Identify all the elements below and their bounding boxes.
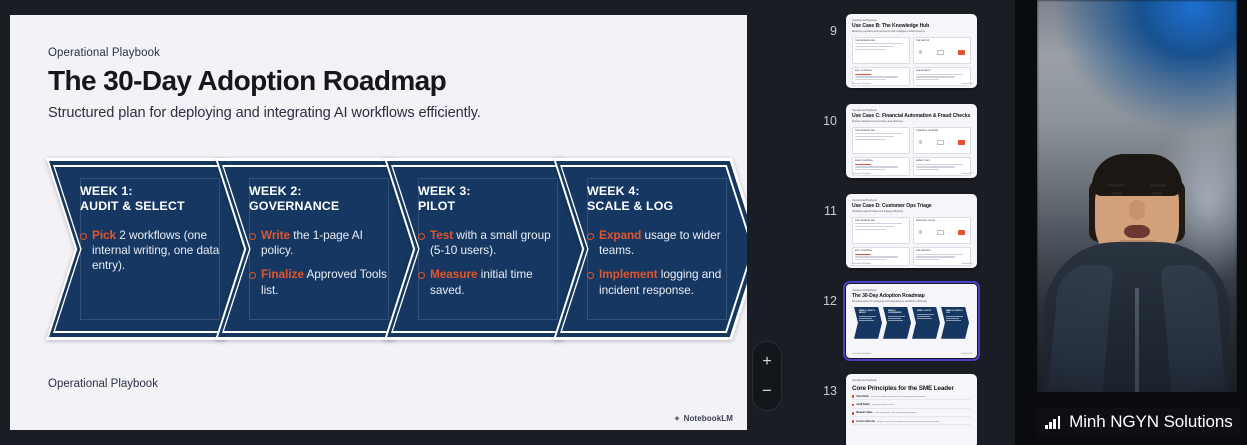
text-line	[916, 79, 939, 80]
thumb-footer: Operational Playbook	[852, 83, 871, 85]
cell-header: THE RESULT	[916, 70, 968, 72]
text-line	[855, 256, 898, 257]
thumb-eyebrow: Operational Playbook	[852, 379, 971, 382]
thumb-watermark: NotebookLM	[961, 83, 972, 85]
text-line	[855, 226, 894, 227]
bullet-dot-icon	[852, 420, 854, 422]
text-line	[855, 79, 886, 80]
thumb-eyebrow: Operational Playbook	[852, 19, 971, 22]
person-hair	[1092, 154, 1182, 196]
principle-label: Start Small	[856, 396, 868, 398]
audio-level-bars-icon	[1045, 415, 1060, 429]
roadmap-step-4-bullets: Expand usage to wider teams.Implement lo…	[587, 228, 727, 299]
thumb-subtitle: Handling support intake and triaging eff…	[852, 210, 971, 213]
thumb-subtitle: Structured plan for deploying and integr…	[852, 300, 971, 303]
thumb-eyebrow: Operational Playbook	[852, 109, 971, 112]
principle-text: Policy precedes access.	[872, 404, 894, 406]
cell-header: RISK CONTROL	[855, 160, 907, 162]
principle-label: Audit Safely	[856, 404, 869, 406]
thumb-step-1: WEEK 1: AUDIT & SELECT	[854, 307, 882, 339]
thumb-cell-2: ROUTING LOGIC→→	[913, 217, 971, 245]
participant-name-bar: Minh NGYN Solutions	[1037, 407, 1241, 437]
slide-footer-label: Operational Playbook	[48, 378, 158, 390]
thumb-footer: Operational Playbook	[852, 353, 871, 355]
thumbnail-number: 9	[820, 14, 846, 38]
thumb-step-title: WEEK 1: AUDIT & SELECT	[859, 310, 880, 315]
person-torso	[1044, 242, 1230, 392]
bullet-keyword: Test	[430, 228, 453, 242]
thumb-cell-grid: THE WORKFLOWROUTING LOGIC→→KEY CONTROLTH…	[852, 217, 971, 267]
thumb-eyebrow: Operational Playbook	[852, 199, 971, 202]
cell-header: THE WORKFLOW	[855, 220, 907, 222]
person-eye-right	[1151, 192, 1163, 196]
thumb-principle-3: Measure ValueTrack time saved, then meas…	[852, 412, 971, 417]
text-line	[855, 46, 894, 47]
roadmap-step-2-bullet-1: Write the 1-page AI policy.	[249, 228, 389, 259]
text-line	[855, 254, 871, 255]
roadmap-step-2-bullet-2: Finalize Approved Tools list.	[249, 267, 389, 298]
bullet-dot-icon	[852, 404, 854, 406]
thumb-footer: Operational Playbook	[852, 173, 871, 175]
cell-header: ROUTING LOGIC	[916, 220, 968, 222]
text-line	[855, 139, 886, 140]
thumb-diagram: →→	[916, 133, 968, 151]
thumbnail-row[interactable]: 9Operational PlaybookUse Case B: The Kno…	[812, 14, 1015, 88]
roadmap-step-4-bullet-2: Implement logging and incident response.	[587, 267, 727, 298]
principle-label: Measure Value	[856, 412, 872, 414]
cell-header: IMPACT KPI	[916, 160, 968, 162]
jacket-collar-right	[1161, 262, 1226, 392]
text-line	[855, 166, 898, 167]
thumb-principle-list: Start SmallFocus on a single workflow, n…	[852, 395, 971, 425]
thumbnail-slide-13[interactable]: Operational PlaybookCore Principles for …	[846, 374, 977, 445]
principle-text: Focus on a single workflow, not an enter…	[870, 396, 926, 398]
thumb-cell-1: THE WORKFLOW	[852, 127, 910, 155]
slide-eyebrow: Operational Playbook	[48, 47, 709, 59]
roadmap-step-3-bullet-2: Measure initial time saved.	[418, 267, 558, 298]
roadmap-step-4-bullet-1: Expand usage to wider teams.	[587, 228, 727, 259]
bullet-dot-icon	[852, 395, 854, 397]
bullet-keyword: Finalize	[261, 267, 304, 281]
thumb-principle-2: Audit SafelyPolicy precedes access.	[852, 404, 971, 409]
thumb-subtitle: Explore categories for accuracy and effi…	[852, 120, 971, 123]
text-line	[916, 256, 955, 257]
text-line	[916, 74, 963, 75]
thumb-step-title: WEEK 4: SCALE & LOG	[946, 310, 967, 315]
page-title: The 30-Day Adoption Roadmap	[48, 65, 709, 96]
jacket-zipper	[1135, 288, 1139, 392]
thumb-title: The 30-Day Adoption Roadmap	[852, 293, 971, 299]
thumb-cell-2: CONTROL SYSTEM→→	[913, 127, 971, 155]
roadmap-step-1-bullets: Pick 2 workflows (one internal writing, …	[80, 228, 220, 274]
thumb-step-title: WEEK 2: GOVERNANCE	[888, 310, 909, 315]
thumb-step-title: WEEK 3: PILOT	[917, 310, 938, 312]
cell-header: THE SETUP	[916, 40, 968, 42]
roadmap-step-2-bullets: Write the 1-page AI policy.Finalize Appr…	[249, 228, 389, 299]
text-line	[855, 43, 902, 44]
thumbnail-slide-10[interactable]: Operational PlaybookUse Case C: Financia…	[846, 104, 977, 178]
roadmap-chevron-row: WEEK 1: AUDIT & SELECTPick 2 workflows (…	[46, 158, 736, 343]
roadmap-step-3-bullets: Test with a small group (5-10 users).Mea…	[418, 228, 558, 299]
notebooklm-icon	[673, 415, 681, 423]
roadmap-step-1-title: WEEK 1: AUDIT & SELECT	[80, 184, 220, 215]
principle-text: Require reviews on audited and data rete…	[877, 421, 940, 423]
active-slide[interactable]: Operational Playbook The 30-Day Adoption…	[10, 15, 747, 430]
presentation-viewer: Operational Playbook The 30-Day Adoption…	[0, 0, 1247, 445]
thumbnail-row[interactable]: 13Operational PlaybookCore Principles fo…	[812, 374, 1015, 445]
thumb-title: Core Principles for the SME Leader	[852, 385, 971, 392]
bullet-keyword: Measure	[430, 267, 478, 281]
thumb-cell-grid: THE WORKFLOWTHE SETUP→→KEY CONTROLTHE RE…	[852, 37, 971, 87]
thumb-cell-1: THE WORKFLOW	[852, 37, 910, 65]
slide-footer: Operational Playbook NotebookLM	[10, 374, 747, 430]
thumbnail-number: 10	[820, 104, 846, 128]
principle-label: Govern Outcome	[856, 421, 875, 423]
thumbnail-slide-11[interactable]: Operational PlaybookUse Case D: Customer…	[846, 194, 977, 268]
thumb-title: Use Case C: Financial Automation & Fraud…	[852, 113, 971, 119]
slide-subtitle: Structured plan for deploying and integr…	[48, 105, 709, 121]
zoom-in-button[interactable]: +	[757, 352, 777, 372]
bullet-dot-icon	[852, 412, 854, 414]
participant-name: Minh NGYN Solutions	[1069, 412, 1232, 432]
principle-text: Track time saved, then measure quality g…	[874, 412, 916, 414]
thumb-diagram: →→	[916, 223, 968, 241]
text-line	[916, 254, 963, 255]
thumb-eyebrow: Operational Playbook	[852, 289, 971, 292]
text-line	[855, 229, 886, 230]
thumbnail-number: 11	[820, 194, 846, 218]
thumbnail-number: 12	[820, 284, 846, 308]
thumb-cell-1: THE WORKFLOW	[852, 217, 910, 245]
thumbnail-row[interactable]: 12Operational PlaybookThe 30-Day Adoptio…	[812, 284, 1015, 358]
zoom-out-button[interactable]: −	[757, 380, 777, 400]
roadmap-step-2-title: WEEK 2: GOVERNANCE	[249, 184, 389, 215]
thumb-chevron-row: WEEK 1: AUDIT & SELECTWEEK 2: GOVERNANCE…	[852, 307, 971, 339]
thumbnail-number: 13	[820, 374, 846, 398]
thumb-watermark: NotebookLM	[961, 353, 972, 355]
text-line	[855, 49, 886, 50]
person-mouth	[1124, 225, 1150, 238]
roadmap-step-3-bullet-1: Test with a small group (5-10 users).	[418, 228, 558, 259]
thumbnail-slide-12[interactable]: Operational PlaybookThe 30-Day Adoption …	[846, 284, 977, 358]
thumb-cell-2: THE SETUP→→	[913, 37, 971, 65]
bullet-keyword: Expand	[599, 228, 641, 242]
text-line	[916, 76, 955, 77]
cell-header: CONTROL SYSTEM	[916, 130, 968, 132]
person-brow-right	[1150, 184, 1166, 187]
text-line	[916, 166, 955, 167]
thumb-title: Use Case B: The Knowledge Hub	[852, 23, 971, 29]
thumb-step-3: WEEK 3: PILOT	[912, 307, 940, 339]
thumb-principle-4: Govern OutcomeRequire reviews on audited…	[852, 420, 971, 425]
video-frame	[1037, 0, 1237, 392]
bullet-keyword: Pick	[92, 228, 116, 242]
cell-header: THE WORKFLOW	[855, 130, 907, 132]
bullet-keyword: Write	[261, 228, 290, 242]
thumb-cell-grid: THE WORKFLOWCONTROL SYSTEM→→RISK CONTROL…	[852, 127, 971, 177]
roadmap-step-4-title: WEEK 4: SCALE & LOG	[587, 184, 727, 215]
cell-header: KEY CONTROL	[855, 250, 907, 252]
thumb-subtitle: Reducing repetitive internal search with…	[852, 30, 971, 33]
bullet-keyword: Implement	[599, 267, 658, 281]
text-line	[916, 259, 939, 260]
thumb-step-4: WEEK 4: SCALE & LOG	[941, 307, 969, 339]
person-brow-left	[1108, 184, 1124, 187]
notebooklm-label: NotebookLM	[684, 414, 733, 423]
text-line	[855, 76, 898, 77]
participant-video-panel[interactable]: Minh NGYN Solutions	[1015, 0, 1247, 445]
thumb-footer: Operational Playbook	[852, 263, 871, 265]
text-line	[855, 169, 886, 170]
person-nose	[1129, 200, 1145, 220]
thumb-step-2: WEEK 2: GOVERNANCE	[883, 307, 911, 339]
roadmap-step-3-title: WEEK 3: PILOT	[418, 184, 558, 215]
thumb-watermark: NotebookLM	[961, 263, 972, 265]
text-line	[855, 223, 902, 224]
text-line	[855, 133, 902, 134]
thumb-diagram: →→	[916, 43, 968, 61]
notebooklm-watermark: NotebookLM	[673, 414, 733, 423]
text-line	[855, 164, 871, 165]
cell-header: THE WORKFLOW	[855, 40, 907, 42]
thumbnail-slide-9[interactable]: Operational PlaybookUse Case B: The Know…	[846, 14, 977, 88]
jacket-collar-left	[1049, 262, 1114, 392]
thumbnail-row[interactable]: 10Operational PlaybookUse Case C: Financ…	[812, 104, 1015, 178]
thumb-principle-1: Start SmallFocus on a single workflow, n…	[852, 395, 971, 400]
cell-header: KEY CONTROL	[855, 70, 907, 72]
text-line	[916, 164, 963, 165]
person-eye-left	[1111, 192, 1123, 196]
thumb-watermark: NotebookLM	[961, 173, 972, 175]
zoom-controls[interactable]: + −	[752, 341, 782, 411]
roadmap-step-4: WEEK 4: SCALE & LOGExpand usage to wider…	[553, 158, 747, 340]
slide-stage: Operational Playbook The 30-Day Adoption…	[0, 0, 812, 445]
thumbnail-row[interactable]: 11Operational PlaybookUse Case D: Custom…	[812, 194, 1015, 268]
text-line	[855, 136, 894, 137]
text-line	[916, 169, 939, 170]
text-line	[855, 74, 871, 75]
roadmap-step-1-bullet-1: Pick 2 workflows (one internal writing, …	[80, 228, 220, 274]
slide-thumbnail-rail[interactable]: 9Operational PlaybookUse Case B: The Kno…	[812, 0, 1015, 445]
thumb-title: Use Case D: Customer Ops Triage	[852, 203, 971, 209]
cell-header: THE METRIC	[916, 250, 968, 252]
text-line	[855, 259, 886, 260]
